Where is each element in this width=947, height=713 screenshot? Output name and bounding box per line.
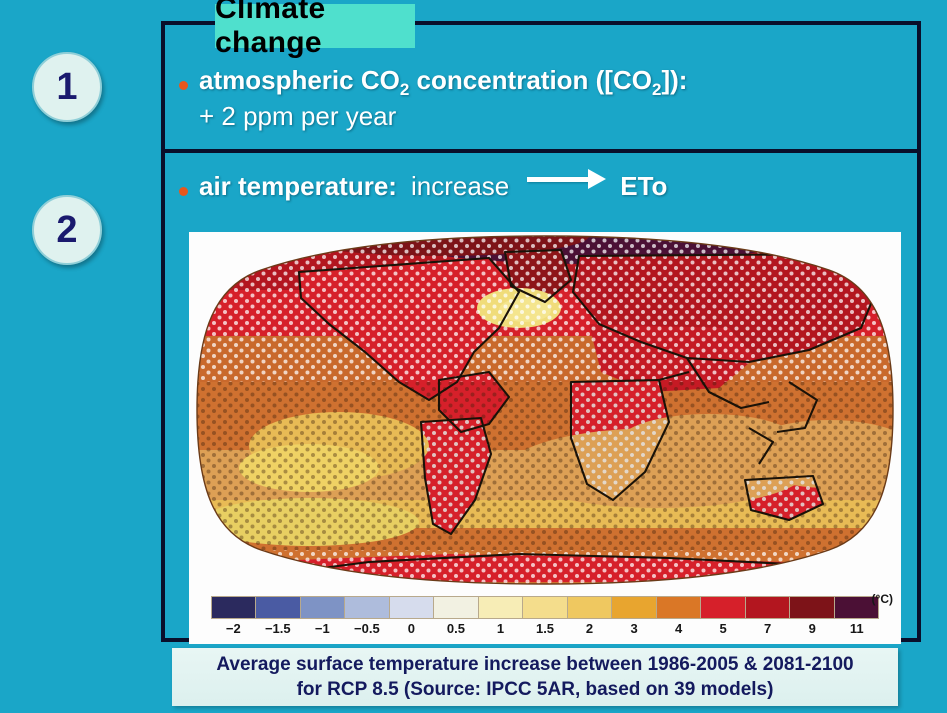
- colorbar-tick-6: 1: [497, 621, 504, 636]
- colorbar-tick-14: 11: [850, 621, 864, 636]
- colorbar-segment-9: [612, 597, 656, 618]
- figure-caption: Average surface temperature increase bet…: [172, 648, 898, 706]
- co2-subscript-1: 2: [400, 80, 409, 99]
- co2-text-tail2: ]):: [661, 65, 687, 95]
- colorbar-segment-3: [345, 597, 389, 618]
- eto-result-label: ETo: [620, 171, 667, 202]
- colorbar-tick-8: 2: [586, 621, 593, 636]
- bullet-item-air-temperature: air temperature: increase ETo: [179, 171, 667, 202]
- colorbar-segment-6: [479, 597, 523, 618]
- colorbar-tick-0: −2: [226, 621, 241, 636]
- slide-title: Climate change: [215, 4, 415, 48]
- colorbar-segment-5: [434, 597, 478, 618]
- colorbar-tick-12: 7: [764, 621, 771, 636]
- step-number-2-label: 2: [56, 209, 77, 252]
- step-number-1-label: 1: [56, 66, 77, 109]
- colorbar-segment-7: [523, 597, 567, 618]
- colorbar-tick-9: 3: [630, 621, 637, 636]
- colorbar-tick-11: 5: [720, 621, 727, 636]
- colorbar-tick-13: 9: [809, 621, 816, 636]
- colorbar-tick-1: −1.5: [265, 621, 291, 636]
- colorbar-tick-5: 0.5: [447, 621, 465, 636]
- bullet-co2-text: atmospheric CO2 concentration ([CO2]):: [199, 65, 687, 100]
- bullet-section-temperature: air temperature: increase ETo: [165, 153, 917, 638]
- air-temperature-label: air temperature:: [199, 171, 397, 202]
- colorbar-segment-10: [657, 597, 701, 618]
- colorbar-segment-2: [301, 597, 345, 618]
- colorbar-segment-13: [790, 597, 834, 618]
- co2-text-main: atmospheric CO: [199, 65, 400, 95]
- colorbar-tick-labels: −2−1.5−1−0.500.511.523457911: [211, 621, 879, 641]
- colorbar-segment-12: [746, 597, 790, 618]
- colorbar-tick-3: −0.5: [354, 621, 380, 636]
- bullet-item-co2: atmospheric CO2 concentration ([CO2]):: [179, 65, 687, 100]
- caption-line-2: for RCP 8.5 (Source: IPCC 5AR, based on …: [297, 677, 774, 702]
- caption-line-1: Average surface temperature increase bet…: [216, 652, 853, 677]
- figure-panel: −2−1.5−1−0.500.511.523457911 (°C): [189, 232, 901, 644]
- colorbar-tick-2: −1: [315, 621, 330, 636]
- air-temperature-trend: increase: [411, 171, 509, 202]
- colorbar: [211, 596, 879, 619]
- bullet-co2-rate: + 2 ppm per year: [199, 101, 396, 132]
- colorbar-segment-8: [568, 597, 612, 618]
- right-arrow-icon: [527, 169, 606, 189]
- step-number-1: 1: [32, 52, 102, 122]
- co2-text-tail: concentration ([CO: [409, 65, 652, 95]
- colorbar-segment-1: [256, 597, 300, 618]
- map-svg: [189, 232, 901, 588]
- colorbar-tick-7: 1.5: [536, 621, 554, 636]
- world-temperature-map: [189, 232, 901, 588]
- colorbar-block: −2−1.5−1−0.500.511.523457911 (°C): [189, 590, 901, 644]
- bullet-dot-icon: [179, 81, 188, 90]
- bullet-dot-icon: [179, 187, 188, 196]
- colorbar-unit-label: (°C): [872, 592, 893, 606]
- colorbar-segment-4: [390, 597, 434, 618]
- colorbar-tick-10: 4: [675, 621, 682, 636]
- step-number-2: 2: [32, 195, 102, 265]
- content-frame: atmospheric CO2 concentration ([CO2]): +…: [161, 21, 921, 642]
- colorbar-segment-0: [212, 597, 256, 618]
- colorbar-segment-11: [701, 597, 745, 618]
- colorbar-tick-4: 0: [408, 621, 415, 636]
